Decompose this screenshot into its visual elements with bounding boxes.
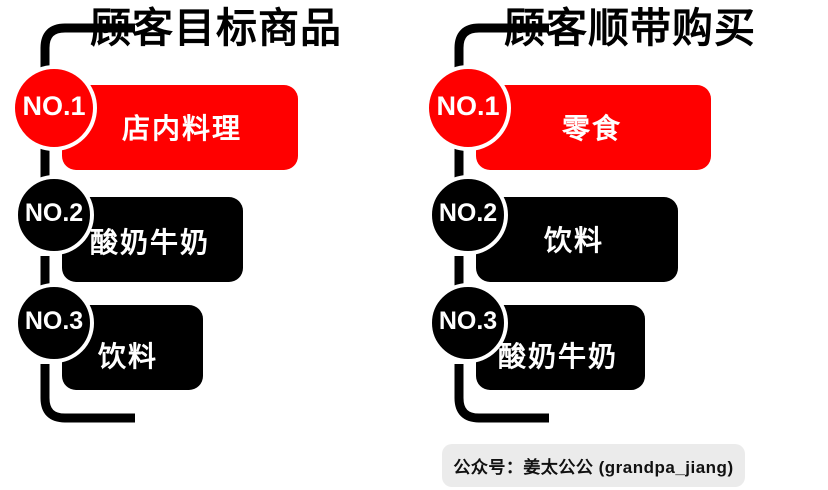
- rank-badge-3: NO.3: [428, 283, 508, 363]
- rank-badge-label: NO.2: [439, 199, 497, 228]
- rank-badge-2: NO.2: [14, 175, 94, 255]
- rank-bar-label: 店内料理: [122, 115, 242, 143]
- rank-badge-3: NO.3: [14, 283, 94, 363]
- column-title-left: 顾客目标商品: [90, 8, 342, 49]
- rank-badge-label: NO.1: [436, 91, 499, 122]
- rank-bar-label: 酸奶牛奶: [90, 229, 210, 257]
- rank-badge-label: NO.1: [22, 91, 85, 122]
- infographic-canvas: 顾客目标商品 店内料理 NO.1 酸奶牛奶 NO.2: [0, 0, 828, 490]
- rank-bar-label: 饮料: [98, 343, 158, 371]
- rank-badge-2: NO.2: [428, 175, 508, 255]
- column-title-right: 顾客顺带购买: [504, 8, 756, 49]
- rank-bar-1[interactable]: 店内料理: [62, 85, 298, 170]
- rank-bar-label: 饮料: [544, 227, 604, 255]
- rank-badge-label: NO.2: [25, 199, 83, 228]
- rank-bar-1[interactable]: 零食: [476, 85, 711, 170]
- rank-bar-label: 酸奶牛奶: [498, 343, 618, 371]
- ranking-column-customer-target-goods: 顾客目标商品 店内料理 NO.1 酸奶牛奶 NO.2: [0, 0, 414, 430]
- footer-credit-badge: 公众号：姜太公公 (grandpa_jiang): [442, 444, 745, 487]
- rank-badge-1: NO.1: [425, 65, 511, 151]
- ranking-column-customer-impulse-buy: 顾客顺带购买 零食 NO.1 饮料 NO.2: [414, 0, 828, 430]
- rank-badge-1: NO.1: [11, 65, 97, 151]
- footer-credit-text: 公众号：姜太公公 (grandpa_jiang): [453, 453, 733, 478]
- rank-badge-label: NO.3: [439, 307, 497, 336]
- rank-bar-label: 零食: [562, 115, 622, 143]
- rank-badge-label: NO.3: [25, 307, 83, 336]
